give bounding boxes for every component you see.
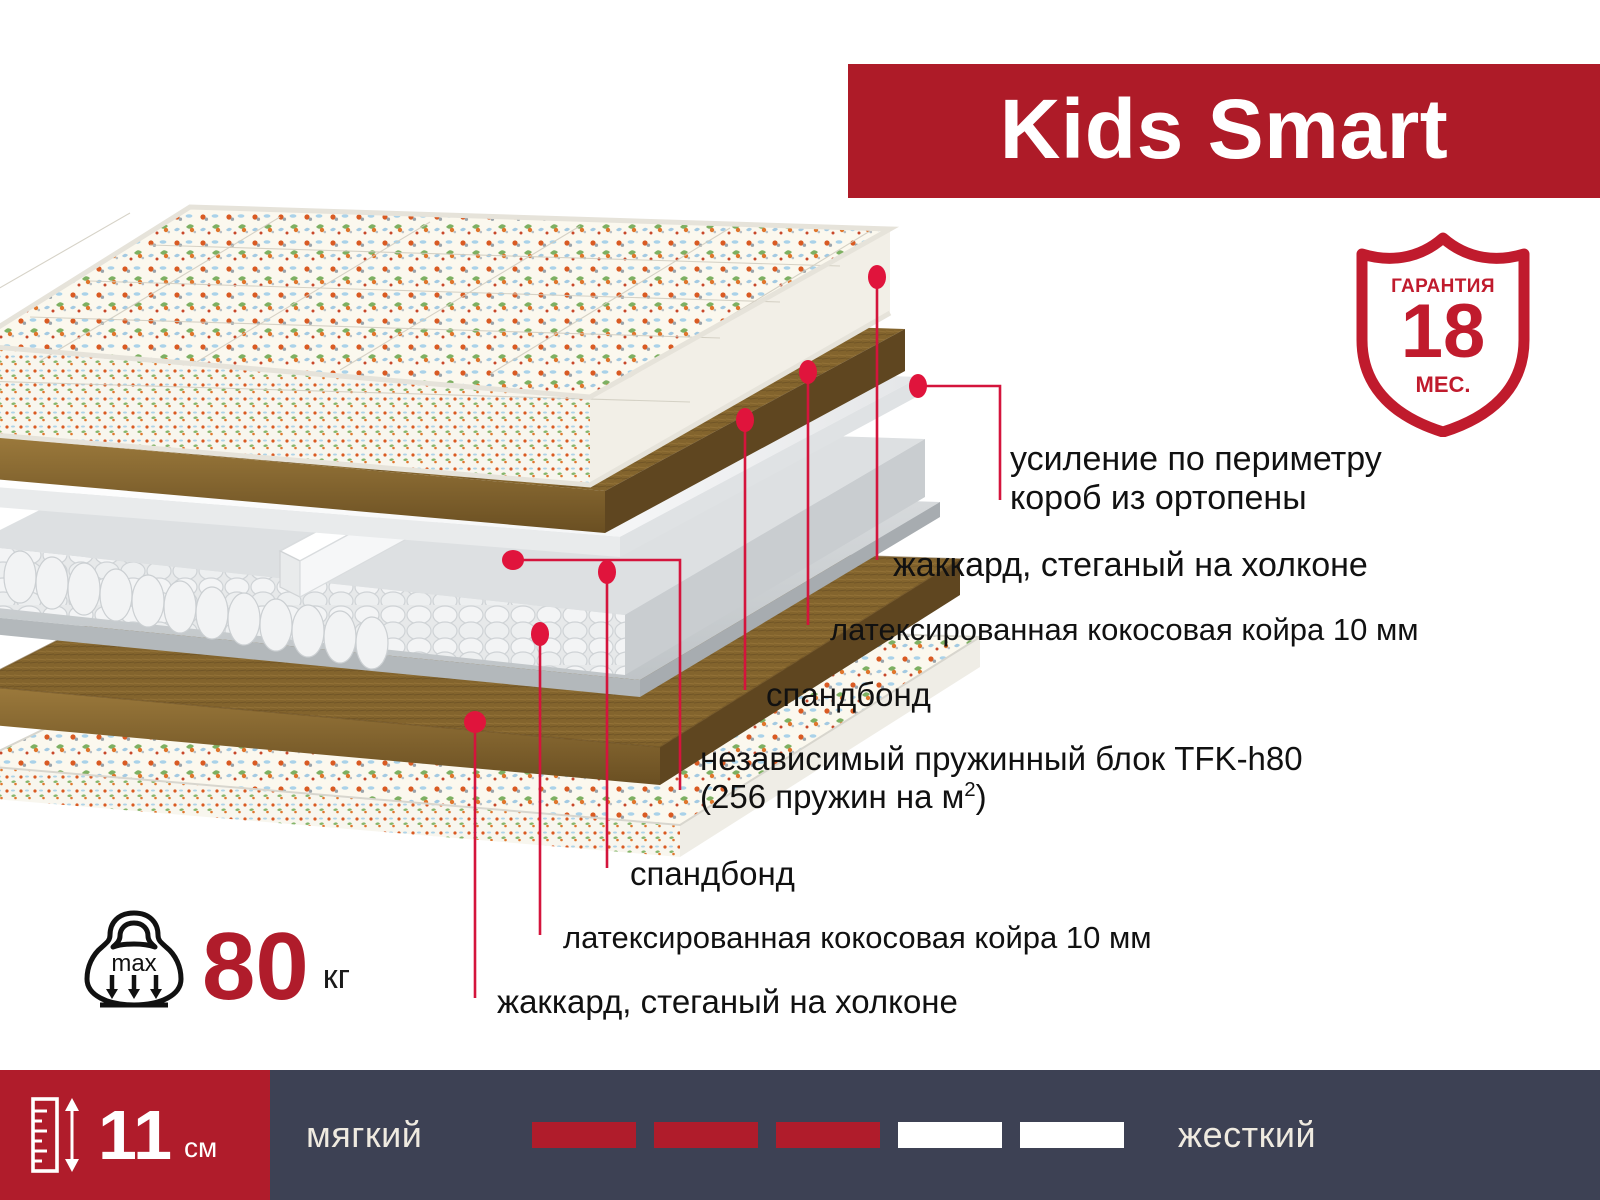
height-value: 11 (98, 1104, 172, 1167)
ruler-height-icon (30, 1096, 86, 1174)
label-springs-density-pre: (256 пружин на м (700, 778, 964, 815)
warranty-badge: ГАРАНТИЯ 18 МЕС. (1348, 232, 1538, 437)
firmness-soft-label: мягкий (306, 1114, 422, 1156)
label-spring-block: независимый пружинный блок TFK-h80 (256 … (700, 740, 1303, 817)
max-weight-block: max 80 кг (80, 905, 350, 1009)
svg-text:max: max (111, 950, 156, 977)
firmness-segment-4 (898, 1122, 1002, 1148)
firmness-segment-5 (1020, 1122, 1124, 1148)
firmness-hard-label: жесткий (1178, 1114, 1316, 1156)
firmness-segment-3 (776, 1122, 880, 1148)
firmness-segment-1 (532, 1122, 636, 1148)
label-springs-line1: независимый пружинный блок TFK-h80 (700, 740, 1303, 778)
infographic-canvas: Kids Smart ГАРАНТИЯ 18 МЕС. (0, 0, 1600, 1200)
height-unit: см (184, 1106, 217, 1164)
label-coir-bottom: латексированная кокосовая койра 10 мм (563, 920, 1152, 956)
label-spunbond-bottom: спандбонд (630, 855, 795, 893)
height-spec-block: 11 см (0, 1070, 270, 1200)
kettlebell-max-load-icon: max (80, 905, 188, 1009)
label-jacquard-bottom: жаккард, стеганый на холконе (497, 983, 958, 1021)
label-jacquard-top: жаккард, стеганый на холконе (893, 546, 1368, 585)
label-spunbond-top: спандбонд (766, 676, 931, 714)
firmness-segment-2 (654, 1122, 758, 1148)
label-springs-density-post: ) (976, 778, 987, 815)
label-perimeter-line2: короб из ортопены (1010, 479, 1382, 518)
label-springs-line2: (256 пружин на м2) (700, 778, 1303, 816)
label-perimeter-line1: усиление по периметру (1010, 440, 1382, 479)
label-springs-superscript: 2 (964, 778, 975, 801)
bottom-spec-bar: 11 см мягкий жесткий (0, 1070, 1600, 1200)
label-perimeter-reinforcement: усиление по периметру короб из ортопены (1010, 440, 1382, 519)
firmness-scale (532, 1122, 1124, 1148)
label-coir-top: латексированная кокосовая койра 10 мм (830, 612, 1419, 648)
shield-icon (1348, 232, 1538, 437)
firmness-scale-block: мягкий жесткий (270, 1070, 1600, 1200)
max-weight-unit: кг (323, 958, 350, 1009)
page-title: Kids Smart (1000, 87, 1448, 171)
brand-header-band: Kids Smart (848, 64, 1600, 198)
max-weight-value: 80 (202, 926, 309, 1009)
